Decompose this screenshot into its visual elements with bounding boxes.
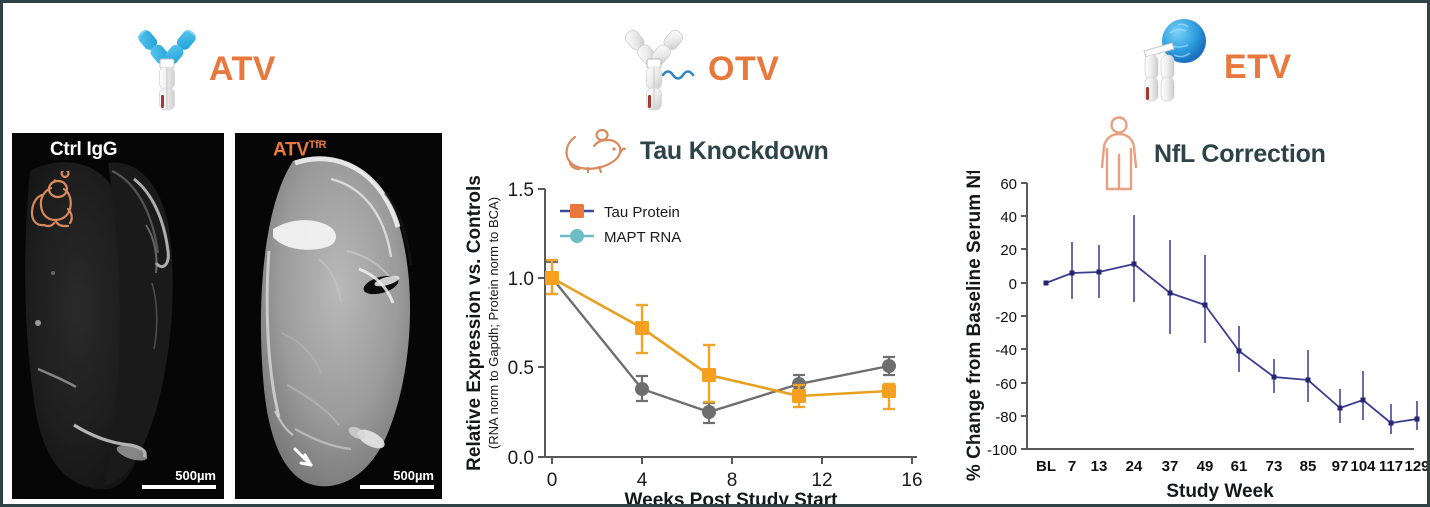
modality-header-otv: OTV xyxy=(622,19,779,119)
x-axis-title: Study Week xyxy=(1166,481,1274,502)
y-tick-label: -20 xyxy=(995,309,1017,326)
x-tick-label: 129 xyxy=(1404,458,1427,475)
scalebar-left: 500µm xyxy=(142,468,216,489)
y-tick-label: 20 xyxy=(1000,242,1017,259)
y-tick-label: -40 xyxy=(995,342,1017,359)
x-tick-label: 7 xyxy=(1068,458,1076,475)
x-tick-label: 37 xyxy=(1162,458,1179,475)
series-nfl xyxy=(1044,215,1420,434)
x-axis-title: Weeks Post Study Start xyxy=(625,490,839,507)
brain-label-atv-tfr: ATVTfR xyxy=(273,139,326,161)
y-ticks: 1.5 1.0 0.5 0.0 xyxy=(508,180,545,469)
y-tick-label: -60 xyxy=(995,376,1017,393)
x-tick-label: 8 xyxy=(727,470,738,491)
x-tick-label: 12 xyxy=(811,470,832,491)
x-tick-label: 49 xyxy=(1197,458,1214,475)
antibody-atv-icon xyxy=(131,19,203,119)
modality-name-atv: ATV xyxy=(209,52,276,86)
brain-label-ctrl-igg: Ctrl IgG xyxy=(50,139,117,161)
antibody-otv-icon xyxy=(622,19,702,119)
modality-name-otv: OTV xyxy=(708,52,779,86)
brain-side-label-left: Hemibrain coronal sliceview xyxy=(12,332,13,493)
x-ticks: BL 7 13 24 37 49 61 73 85 97 104 117 129 xyxy=(1036,458,1427,475)
brain-image-atv-tfr: ATVTfR Hemibrain coronal sliceview 500µm xyxy=(235,133,442,499)
y-tick-label: 1.0 xyxy=(508,269,534,290)
y-tick-label: 0.5 xyxy=(508,358,534,379)
y-tick-label: -80 xyxy=(995,409,1017,426)
antibody-etv-icon xyxy=(1132,13,1218,121)
x-tick-label: 104 xyxy=(1350,458,1376,475)
brain-side-label-right: Hemibrain coronal sliceview xyxy=(235,332,236,493)
x-tick-label: 117 xyxy=(1379,458,1403,475)
x-tick-label: 4 xyxy=(637,470,648,491)
x-tick-label: 85 xyxy=(1300,458,1317,475)
panel-etv: ETV NfL Correction xyxy=(944,3,1427,507)
modality-name-etv: ETV xyxy=(1224,50,1292,84)
chart-tau-knockdown: 1.5 1.0 0.5 0.0 0 4 8 12 16 xyxy=(452,171,944,507)
panel-otv: OTV Tau Knockdown xyxy=(452,3,944,507)
modality-header-etv: ETV xyxy=(1132,13,1292,121)
y-tick-label: 1.5 xyxy=(508,180,534,201)
mouse-icon xyxy=(562,129,626,173)
y-tick-label: -100 xyxy=(987,442,1017,459)
y-tick-label: 0.0 xyxy=(508,448,534,469)
scalebar-right: 500µm xyxy=(360,468,434,489)
panel-atv: ATV xyxy=(3,3,452,507)
scalebar-label-left: 500µm xyxy=(142,468,216,483)
x-tick-label: 97 xyxy=(1332,458,1349,475)
panel-title-tau-knockdown: Tau Knockdown xyxy=(640,137,829,166)
x-tick-label: 73 xyxy=(1266,458,1283,475)
chart-legend: Tau Protein MAPT RNA xyxy=(560,204,681,246)
y-axis-subtitle: (RNA norm to Gapdh; Protein norm to BCA) xyxy=(486,197,501,449)
y-tick-label: 0 xyxy=(1009,276,1017,293)
publication-figure: ATV xyxy=(0,0,1430,507)
x-tick-label: 13 xyxy=(1091,458,1108,475)
chart-nfl-correction: 60 40 20 0 -20 -40 -60 -80 -100 BL 7 13 … xyxy=(944,171,1427,507)
y-axis-title: % Change from Baseline Serum NfL xyxy=(964,171,985,481)
legend-label-tau-protein: Tau Protein xyxy=(604,204,680,221)
title-row-tau-knockdown: Tau Knockdown xyxy=(562,129,829,173)
series-mapt-rna xyxy=(546,262,896,423)
x-tick-label: 0 xyxy=(547,470,558,491)
x-tick-label: 16 xyxy=(901,470,922,491)
legend-label-mapt-rna: MAPT RNA xyxy=(604,229,681,246)
brain-image-ctrl-igg: Ctrl IgG Hemibrain coronal sliceview 500… xyxy=(12,133,224,499)
scalebar-label-right: 500µm xyxy=(360,468,434,483)
modality-header-atv: ATV xyxy=(131,19,276,119)
scalebar-line-right xyxy=(360,485,434,489)
x-tick-label: BL xyxy=(1036,458,1056,475)
y-ticks: 60 40 20 0 -20 -40 -60 -80 -100 xyxy=(987,176,1027,459)
x-tick-label: 24 xyxy=(1126,458,1143,475)
y-tick-label: 40 xyxy=(1000,209,1017,226)
panel-title-nfl-correction: NfL Correction xyxy=(1154,140,1326,169)
monkey-icon xyxy=(24,171,80,233)
x-ticks: 0 4 8 12 16 xyxy=(547,457,923,491)
brain-slice-bright xyxy=(235,133,442,499)
y-tick-label: 60 xyxy=(1000,176,1017,193)
y-axis-title: Relative Expression vs. Controls xyxy=(464,175,485,471)
scalebar-line-left xyxy=(142,485,216,489)
x-tick-label: 61 xyxy=(1231,458,1248,475)
